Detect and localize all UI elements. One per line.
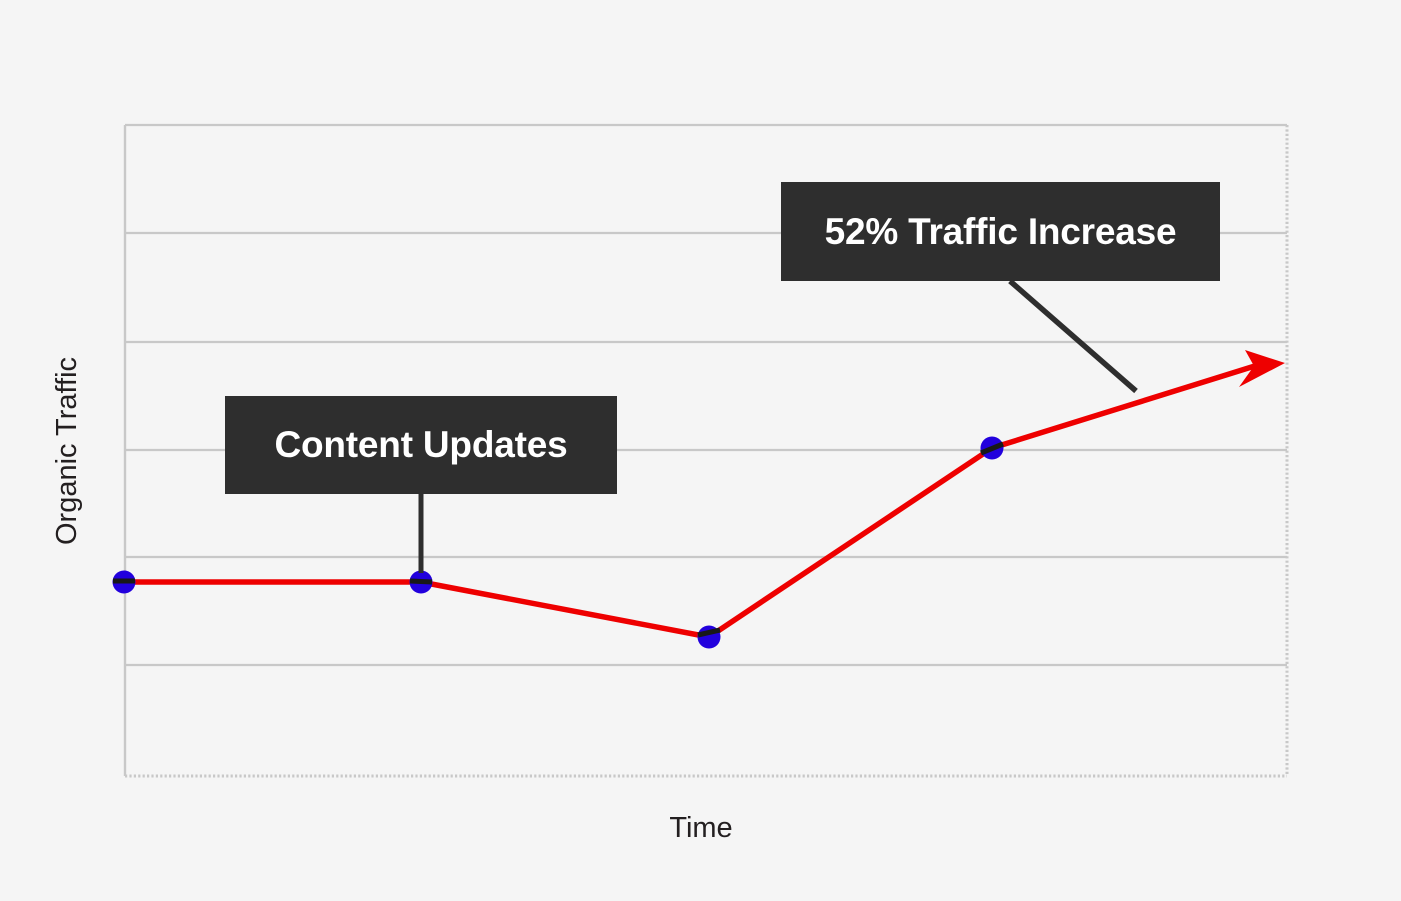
annotation-traffic-increase: 52% Traffic Increase — [781, 182, 1220, 281]
x-axis-label: Time — [601, 812, 801, 845]
line-chart-svg — [0, 0, 1401, 901]
annotation-content-updates: Content Updates — [225, 396, 617, 494]
annotation-traffic-increase-text: 52% Traffic Increase — [825, 211, 1177, 253]
data-point-4 — [981, 437, 1004, 460]
annotation-content-updates-text: Content Updates — [274, 424, 567, 466]
data-point-1 — [113, 571, 136, 594]
data-point-2 — [410, 571, 433, 594]
data-point-3 — [698, 626, 721, 649]
chart-figure: Organic Traffic Time 52% Traffic Increas… — [0, 0, 1401, 901]
y-axis-label: Organic Traffic — [51, 357, 84, 545]
